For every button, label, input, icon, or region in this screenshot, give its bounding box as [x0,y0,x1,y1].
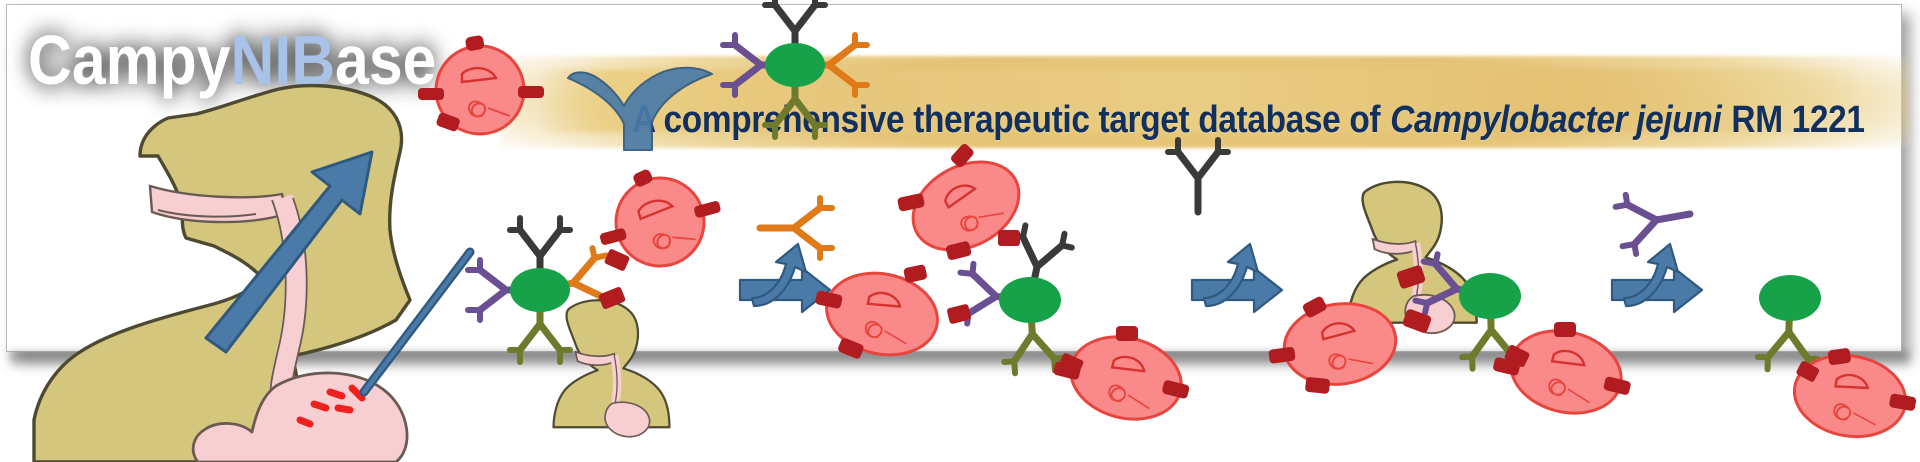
logo-text: CampyNIBase [28,12,341,109]
logo-part-nib: NIB [230,21,335,99]
tagline-prefix: A comprehensive therapeutic target datab… [632,99,1390,141]
campynibase-banner: A comprehensive therapeutic target datab… [0,0,1920,462]
logo-part-campy: Campy [28,21,230,99]
tagline-strain: RM 1221 [1731,99,1864,141]
logo-part-ase: ase [335,21,436,99]
stomach-lesions [300,388,362,424]
site-logo[interactable]: CampyNIBase CampyNIBase [28,14,358,106]
tagline: A comprehensive therapeutic target datab… [632,96,1750,144]
banner-drop-shadow [10,352,1910,368]
tagline-species: Campylobacter jejuni [1390,99,1731,141]
